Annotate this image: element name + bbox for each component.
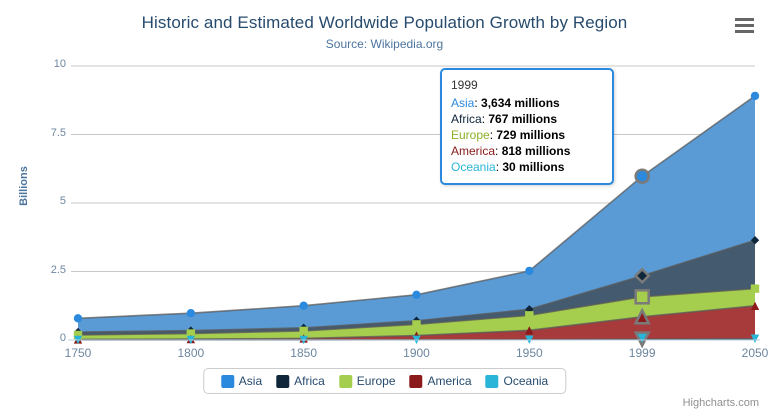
x-axis-tick: 1950: [499, 346, 559, 360]
chart-tooltip: 1999 Asia: 3,634 millionsAfrica: 767 mil…: [440, 68, 614, 185]
y-axis-title: Billions: [18, 156, 30, 216]
legend-swatch-icon: [276, 375, 289, 388]
data-point-marker: [299, 327, 307, 335]
tooltip-row: Europe: 729 millions: [451, 127, 603, 143]
legend-item-america[interactable]: America: [403, 374, 479, 388]
legend-item-africa[interactable]: Africa: [269, 374, 332, 388]
data-point-marker: [187, 309, 195, 317]
legend-item-oceania[interactable]: Oceania: [479, 374, 556, 388]
y-axis-tick: 2.5: [26, 264, 66, 276]
tooltip-row: America: 818 millions: [451, 143, 603, 159]
y-axis-tick: 10: [26, 58, 66, 70]
tooltip-series-value: 818 millions: [502, 144, 571, 158]
data-point-marker: [412, 320, 420, 328]
legend-swatch-icon: [486, 375, 499, 388]
data-point-marker: [751, 284, 759, 292]
tooltip-series-name: Africa: [451, 112, 482, 126]
legend-label: Oceania: [504, 374, 549, 388]
tooltip-row: Asia: 3,634 millions: [451, 95, 603, 111]
data-point-marker: [751, 92, 759, 100]
legend-label: Asia: [239, 374, 262, 388]
tooltip-series-value: 30 millions: [502, 160, 564, 174]
tooltip-separator: :: [474, 96, 481, 110]
legend-swatch-icon: [410, 375, 423, 388]
legend-item-europe[interactable]: Europe: [332, 374, 403, 388]
legend-swatch-icon: [339, 375, 352, 388]
tooltip-series-name: Europe: [451, 128, 490, 142]
data-point-marker: [525, 311, 533, 319]
x-axis-tick: 1850: [274, 346, 334, 360]
legend-swatch-icon: [221, 375, 234, 388]
tooltip-series-value: 729 millions: [496, 128, 565, 142]
tooltip-series-name: Oceania: [451, 160, 496, 174]
legend-item-asia[interactable]: Asia: [214, 374, 269, 388]
tooltip-series-value: 3,634 millions: [481, 96, 560, 110]
legend-label: America: [428, 374, 472, 388]
y-axis-tick: 0: [26, 332, 66, 344]
credits-link[interactable]: Highcharts.com: [683, 397, 759, 409]
tooltip-series-name: America: [451, 144, 495, 158]
x-axis-tick: 2050: [725, 346, 769, 360]
x-axis-tick: 1999: [612, 346, 672, 360]
data-point-marker: [412, 291, 420, 299]
x-axis-tick: 1750: [48, 346, 108, 360]
data-point-marker: [74, 314, 82, 322]
tooltip-separator: :: [495, 144, 502, 158]
x-axis-tick: 1900: [387, 346, 447, 360]
tooltip-rows: Asia: 3,634 millionsAfrica: 767 millions…: [451, 95, 603, 175]
x-axis-tick: 1800: [161, 346, 221, 360]
y-axis-tick: 7.5: [26, 127, 66, 139]
tooltip-header: 1999: [451, 77, 603, 93]
y-axis-tick: 5: [26, 195, 66, 207]
legend-label: Africa: [294, 374, 325, 388]
data-point-marker: [299, 301, 307, 309]
tooltip-series-name: Asia: [451, 96, 474, 110]
highcharts-container: Historic and Estimated Worldwide Populat…: [0, 0, 769, 416]
tooltip-row: Oceania: 30 millions: [451, 159, 603, 175]
data-point-marker: [525, 267, 533, 275]
tooltip-series-value: 767 millions: [488, 112, 557, 126]
legend-label: Europe: [357, 374, 396, 388]
chart-legend: AsiaAfricaEuropeAmericaOceania: [203, 368, 566, 394]
tooltip-row: Africa: 767 millions: [451, 111, 603, 127]
